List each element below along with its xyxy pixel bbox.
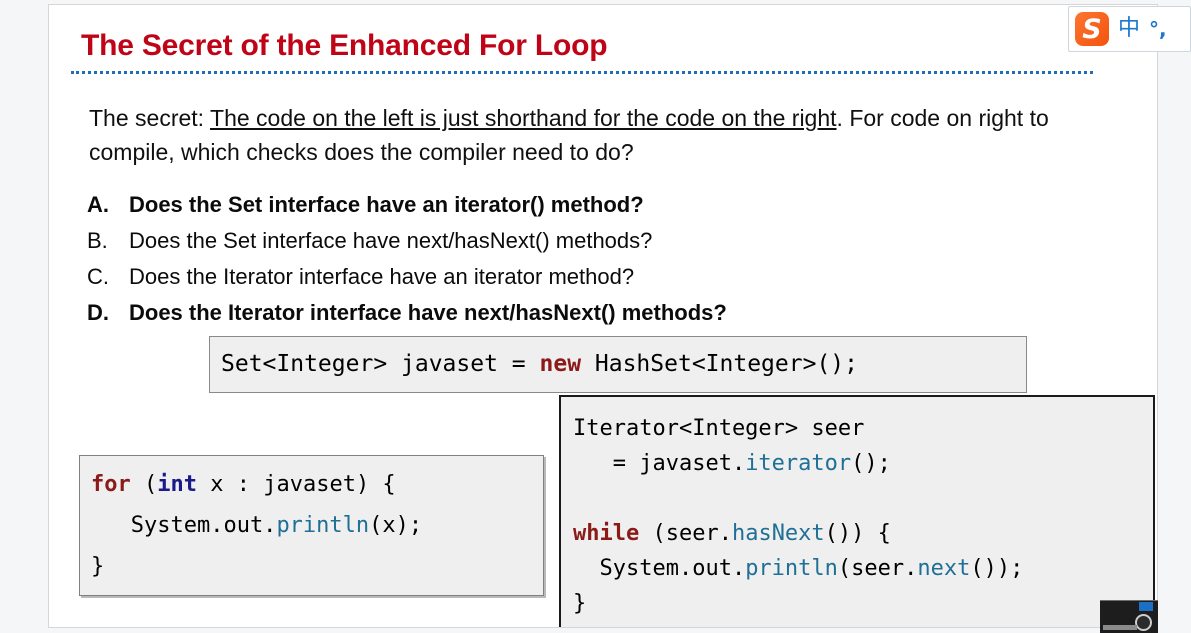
code-method-iterator: iterator <box>745 451 851 476</box>
code-text: (x); <box>369 513 422 538</box>
code-text: } <box>91 554 104 579</box>
answer-choice-a[interactable]: A. Does the Set interface have an iterat… <box>87 187 1097 223</box>
code-text: HashSet<Integer>(); <box>581 351 858 377</box>
code-method-hasnext: hasNext <box>732 521 825 546</box>
lead-paragraph: The secret: The code on the left is just… <box>89 101 1099 169</box>
code-method-println: println <box>276 513 369 538</box>
code-text: Set<Integer> javaset = <box>221 351 540 377</box>
ime-language-mode-icon[interactable]: 中 <box>1118 18 1140 40</box>
choice-letter: B. <box>87 223 129 259</box>
answer-choice-c[interactable]: C. Does the Iterator interface have an i… <box>87 259 1097 295</box>
lead-underlined: The code on the left is just shorthand f… <box>210 105 837 131</box>
code-keyword-while: while <box>573 521 639 546</box>
code-keyword-for: for <box>91 472 131 497</box>
sogou-logo-icon[interactable]: S <box>1075 12 1109 46</box>
code-type-int: int <box>157 472 197 497</box>
code-text: = javaset. <box>573 451 745 476</box>
code-block-for-loop: for (int x : javaset) { System.out.print… <box>79 455 544 596</box>
code-text: System.out. <box>573 556 745 581</box>
choice-text: Does the Set interface have next/hasNext… <box>129 223 652 259</box>
answer-choice-d[interactable]: D. Does the Iterator interface have next… <box>87 295 1097 331</box>
slide-canvas: The Secret of the Enhanced For Loop The … <box>48 4 1158 628</box>
corner-knob-icon[interactable] <box>1135 614 1152 631</box>
code-text: ()); <box>970 556 1023 581</box>
choice-letter: C. <box>87 259 129 295</box>
choice-text: Does the Iterator interface have next/ha… <box>129 295 727 331</box>
code-block-declaration: Set<Integer> javaset = new HashSet<Integ… <box>209 336 1027 393</box>
code-method-next: next <box>917 556 970 581</box>
choice-text: Does the Set interface have an iterator(… <box>129 187 644 223</box>
code-text: x : javaset) { <box>197 472 396 497</box>
code-keyword-new: new <box>540 351 582 377</box>
title-divider <box>71 71 1093 74</box>
code-text: Iterator<Integer> seer <box>573 416 864 441</box>
corner-strip <box>1103 625 1137 630</box>
page-title: The Secret of the Enhanced For Loop <box>81 29 607 63</box>
code-text: ()) { <box>825 521 891 546</box>
code-method-println: println <box>745 556 838 581</box>
choice-letter: A. <box>87 187 129 223</box>
choice-letter: D. <box>87 295 129 331</box>
code-text: (seer. <box>838 556 917 581</box>
code-text: } <box>573 591 586 616</box>
ime-punctuation-mode-icon[interactable]: °, <box>1149 19 1167 39</box>
taskbar-corner-widget[interactable] <box>1100 600 1158 633</box>
corner-badge-icon <box>1139 602 1153 611</box>
lead-prefix: The secret: <box>89 105 210 131</box>
choice-text: Does the Iterator interface have an iter… <box>129 259 634 295</box>
code-text: ( <box>131 472 158 497</box>
code-text: System.out. <box>91 513 276 538</box>
code-block-iterator-loop: Iterator<Integer> seer = javaset.iterato… <box>559 395 1155 628</box>
ime-toolbar[interactable]: S 中 °, <box>1068 6 1191 52</box>
code-text: (seer. <box>639 521 732 546</box>
code-text: (); <box>851 451 891 476</box>
answer-choice-list: A. Does the Set interface have an iterat… <box>87 187 1097 331</box>
answer-choice-b[interactable]: B. Does the Set interface have next/hasN… <box>87 223 1097 259</box>
